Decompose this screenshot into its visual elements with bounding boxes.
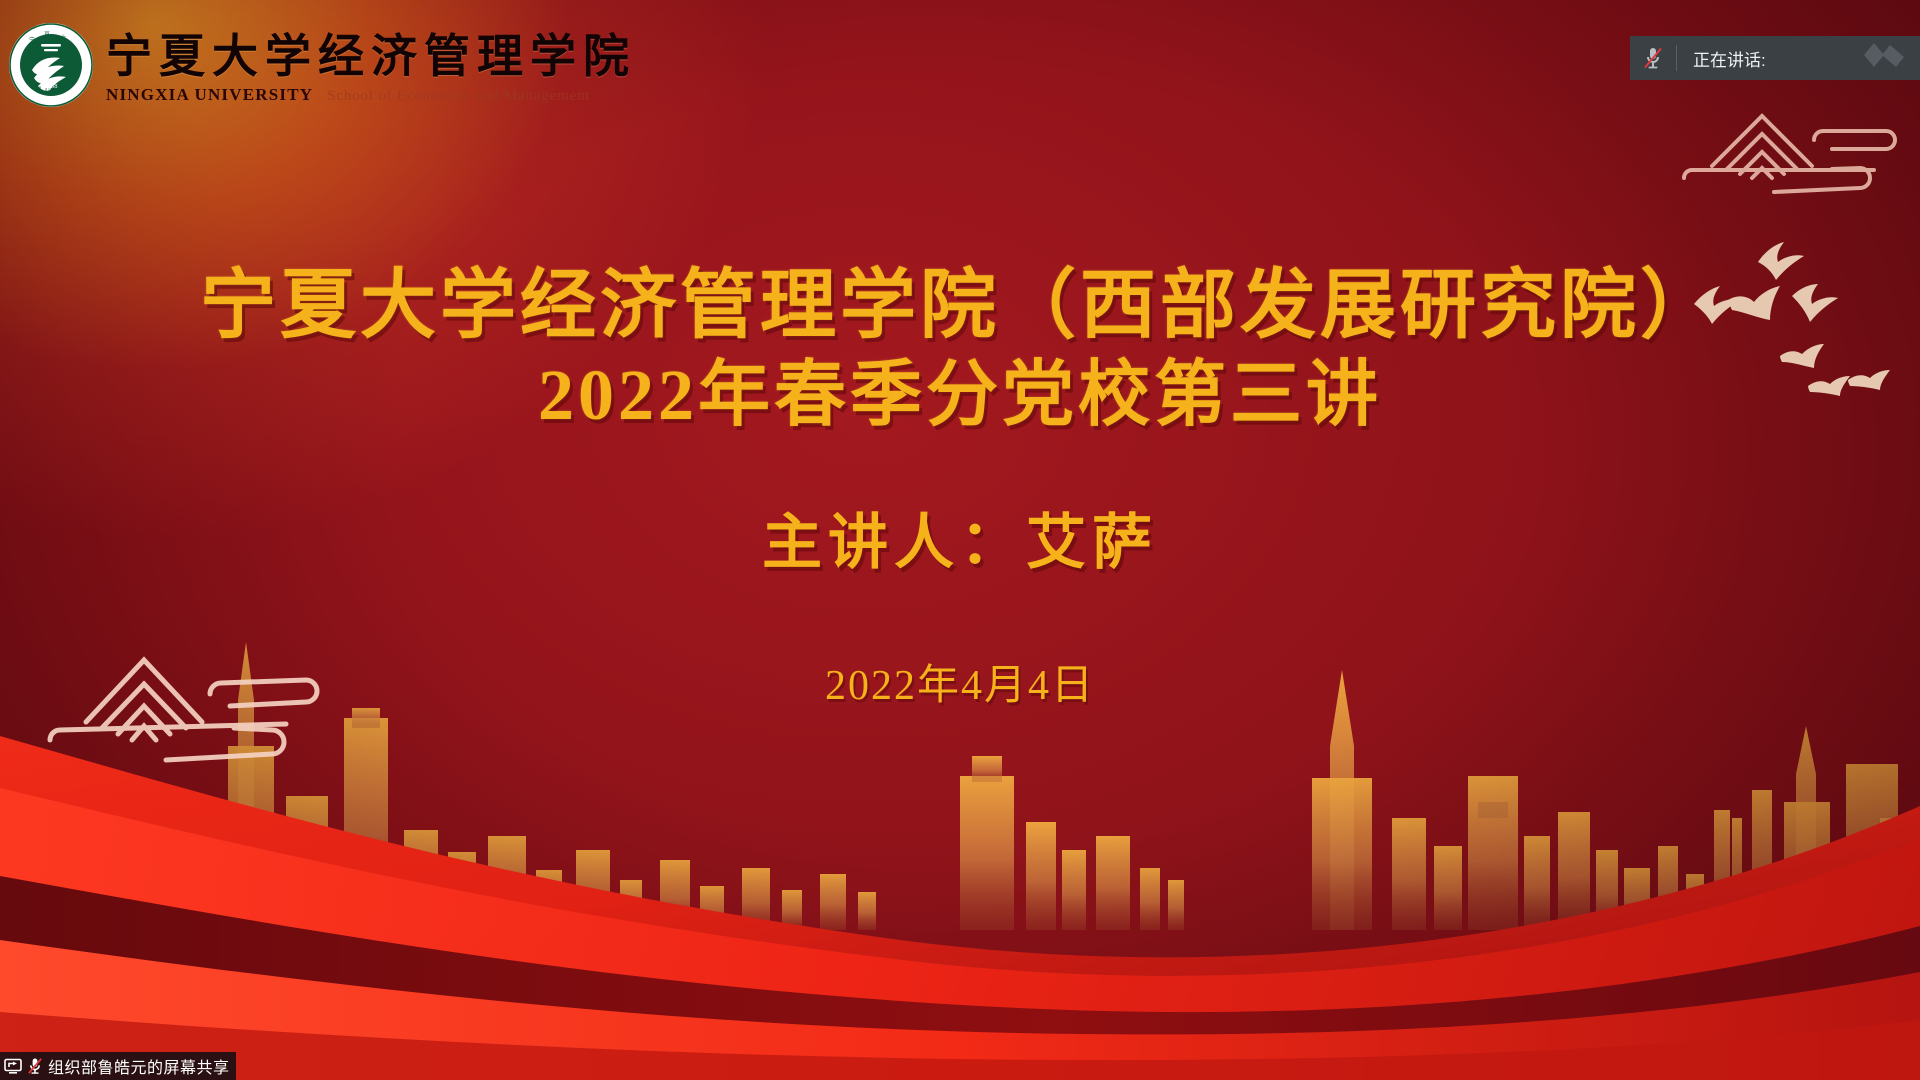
slide-date-line: 2022年4月4日 bbox=[0, 651, 1920, 712]
microphone-muted-icon-2 bbox=[24, 1055, 46, 1077]
screen-share-label: 组织部鲁皓元的屏幕共享 bbox=[48, 1054, 230, 1078]
svg-text:夏: 夏 bbox=[44, 32, 50, 39]
chinese-cloud-motif-icon bbox=[1664, 92, 1904, 210]
logo-institution-name-cn: 宁夏大学经济管理学院 bbox=[106, 34, 636, 80]
screen-share-slide: 1958 NINGXIA UNIVERSITY 宁夏大 宁夏大学经济管理学院 N… bbox=[0, 0, 1920, 1080]
screen-share-status-bar[interactable]: 组织部鲁皓元的屏幕共享 bbox=[0, 1052, 236, 1080]
microphone-muted-icon[interactable] bbox=[1630, 36, 1676, 80]
logo-institution-name-en: NINGXIA UNIVERSITY bbox=[106, 85, 313, 105]
svg-text:大: 大 bbox=[60, 34, 66, 42]
active-speaker-label: 正在讲话: bbox=[1693, 46, 1766, 71]
active-speaker-bar[interactable]: 正在讲话: bbox=[1630, 36, 1920, 80]
slide-title-line1: 宁夏大学经济管理学院（西部发展研究院） bbox=[0, 262, 1920, 352]
screen-share-icon bbox=[2, 1055, 24, 1077]
slide-title-line2: 2022年春季分党校第三讲 bbox=[0, 352, 1920, 438]
svg-text:宁: 宁 bbox=[29, 36, 35, 44]
university-logo-block: 1958 NINGXIA UNIVERSITY 宁夏大 宁夏大学经济管理学院 N… bbox=[8, 22, 636, 108]
university-seal-icon: 1958 NINGXIA UNIVERSITY 宁夏大 bbox=[8, 22, 94, 108]
logo-institution-sub-en: School of Economics and Management bbox=[327, 88, 590, 105]
slide-title-block: 宁夏大学经济管理学院（西部发展研究院） 2022年春季分党校第三讲 主讲人：艾萨… bbox=[0, 262, 1920, 712]
speaker-bar-divider bbox=[1676, 45, 1677, 71]
slide-speaker-line: 主讲人：艾萨 bbox=[0, 494, 1920, 581]
brand-watermark-icon bbox=[1860, 41, 1910, 76]
